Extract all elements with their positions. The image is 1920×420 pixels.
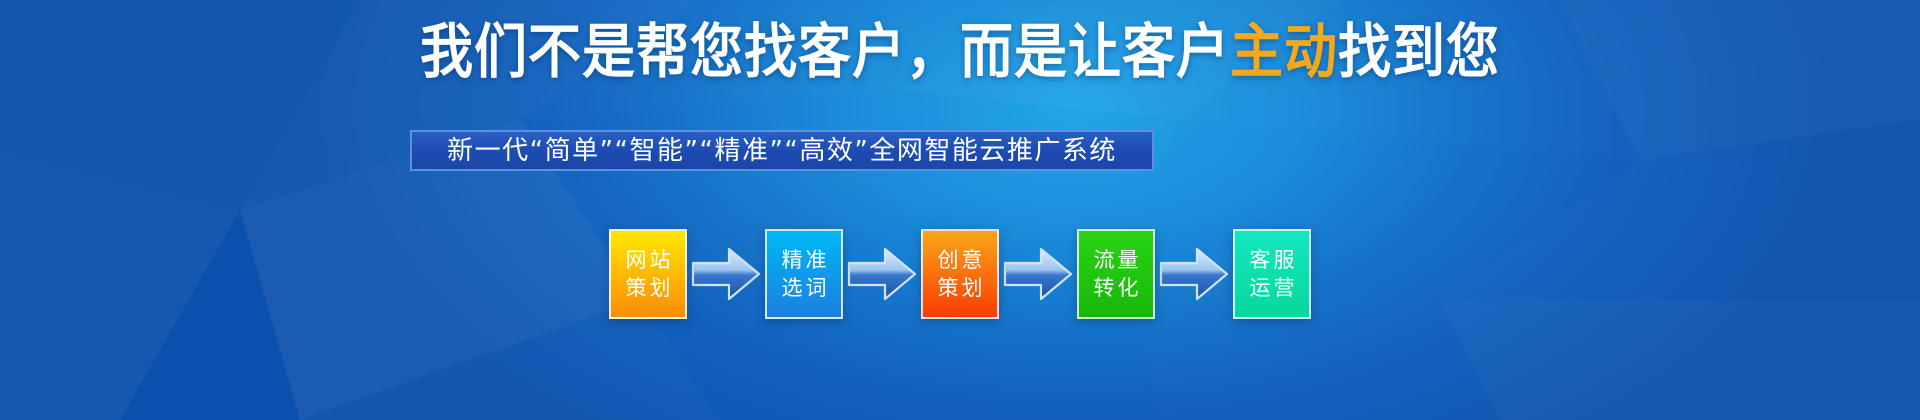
step-box-website-planning[interactable]: 网站 策划 (609, 229, 687, 319)
arrow-right-icon (1001, 243, 1075, 305)
promo-banner: 我们不是帮您找客户，而是让客户主动找到您 新一代“简单”“智能”“精准”“高效”… (0, 0, 1920, 420)
headline-highlight: 主动 (1230, 18, 1338, 87)
step-line-1: 精准 (779, 246, 830, 274)
subtitle-text: 新一代“简单”“智能”“精准”“高效”全网智能云推广系统 (447, 136, 1117, 166)
step-line-1: 创意 (935, 246, 986, 274)
step-line-2: 策划 (623, 274, 674, 302)
step-box-traffic-conversion[interactable]: 流量 转化 (1077, 229, 1155, 319)
headline-text-part1: 我们不是帮您找客户，而是让客户 (420, 18, 1230, 87)
step-line-1: 网站 (623, 246, 674, 274)
arrow-right-icon (1157, 243, 1231, 305)
headline-text-part2: 找到您 (1338, 18, 1500, 87)
arrow-right-icon (845, 243, 919, 305)
step-box-customer-service[interactable]: 客服 运营 (1233, 229, 1311, 319)
step-box-creative-planning[interactable]: 创意 策划 (921, 229, 999, 319)
step-line-2: 策划 (935, 274, 986, 302)
step-line-2: 选词 (779, 274, 830, 302)
process-steps: 网站 策划 精准 选词 (0, 228, 1920, 320)
step-line-2: 运营 (1247, 274, 1298, 302)
subtitle-bar: 新一代“简单”“智能”“精准”“高效”全网智能云推广系统 (410, 130, 1154, 171)
step-line-1: 客服 (1247, 246, 1298, 274)
step-line-2: 转化 (1091, 274, 1142, 302)
headline: 我们不是帮您找客户，而是让客户主动找到您 (0, 18, 1920, 80)
arrow-right-icon (689, 243, 763, 305)
step-line-1: 流量 (1091, 246, 1142, 274)
step-box-keyword-selection[interactable]: 精准 选词 (765, 229, 843, 319)
